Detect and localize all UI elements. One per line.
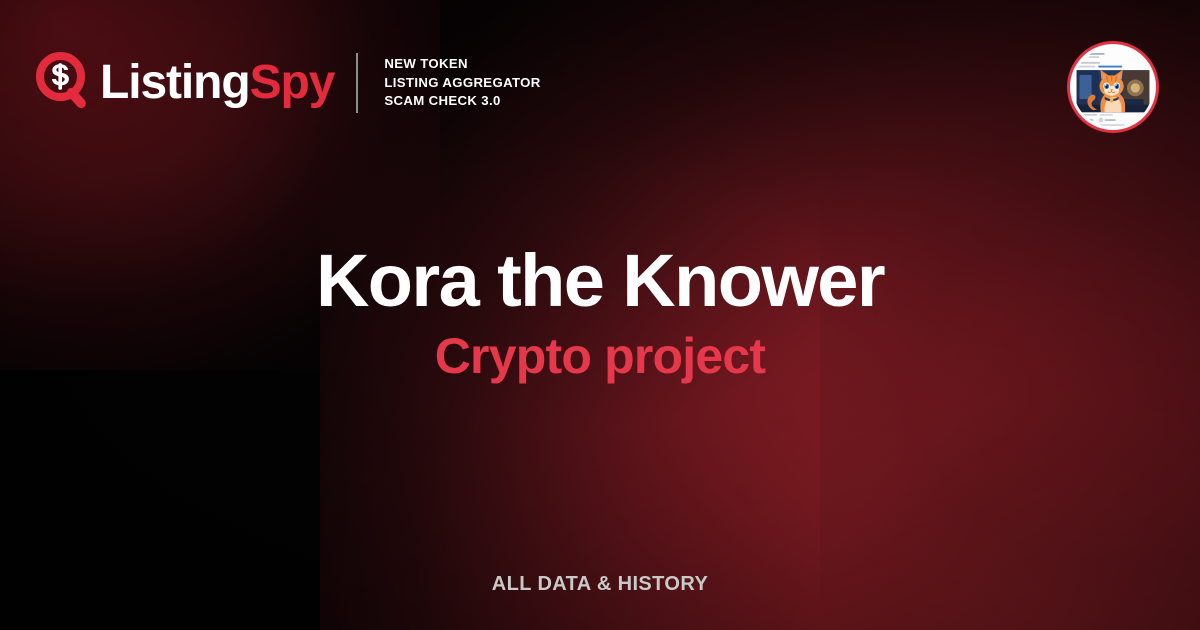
project-avatar[interactable]: [1067, 41, 1159, 133]
footer-caption: ALL DATA & HISTORY: [0, 573, 1200, 596]
brand-logo[interactable]: ListingSpy: [36, 52, 334, 114]
brand-name: ListingSpy: [100, 59, 334, 107]
avatar-image: [1073, 47, 1153, 127]
page-title: Kora the Knower: [0, 243, 1200, 318]
brand-tagline: NEW TOKEN LISTING AGGREGATOR SCAM CHECK …: [384, 55, 540, 111]
page-subtitle: Crypto project: [0, 330, 1200, 383]
tagline-line-3: SCAM CHECK 3.0: [384, 92, 540, 111]
magnifier-dollar-icon: [36, 52, 94, 114]
tagline-line-2: LISTING AGGREGATOR: [384, 74, 540, 93]
header: ListingSpy NEW TOKEN LISTING AGGREGATOR …: [36, 52, 541, 114]
tagline-line-1: NEW TOKEN: [384, 55, 540, 74]
brand-name-listing: Listing: [100, 56, 250, 109]
og-banner: ListingSpy NEW TOKEN LISTING AGGREGATOR …: [0, 0, 1200, 630]
header-divider: [356, 53, 358, 113]
brand-name-spy: Spy: [250, 56, 335, 109]
cat-post-thumbnail-icon: [1073, 47, 1153, 127]
hero-block: Kora the Knower Crypto project: [0, 243, 1200, 383]
